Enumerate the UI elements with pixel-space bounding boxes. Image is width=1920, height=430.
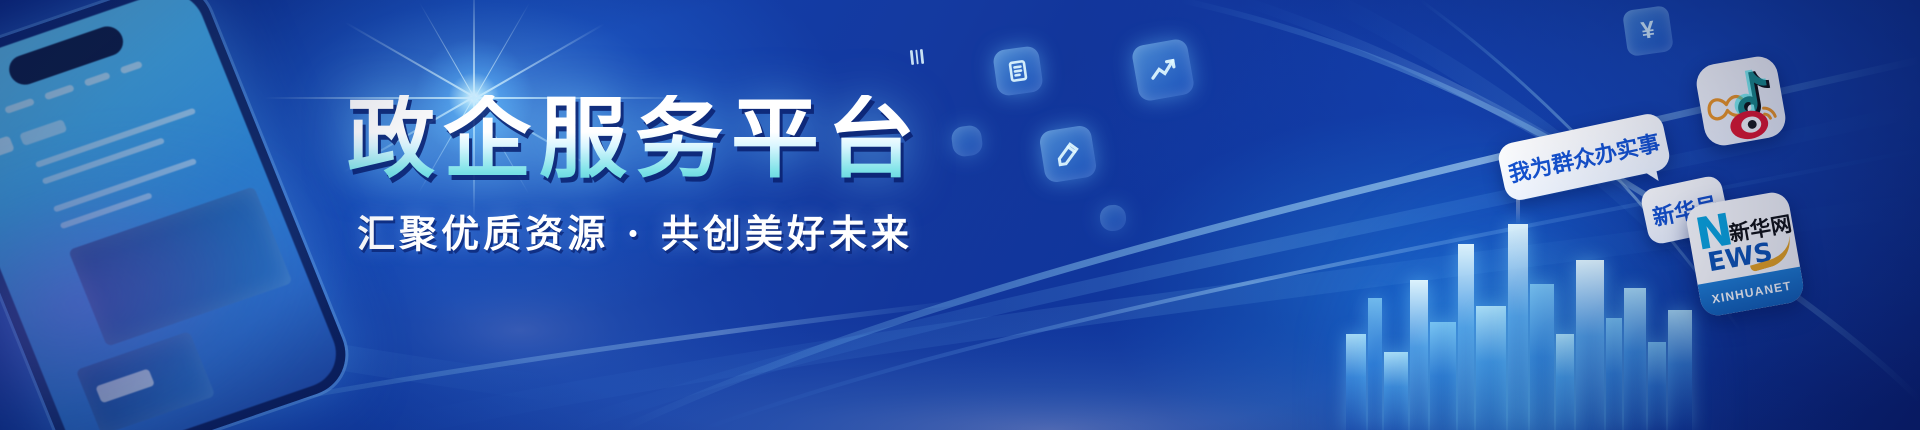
page-title: 政企服务平台 (325, 95, 945, 183)
document-icon[interactable] (992, 45, 1044, 97)
promo-banner: ¥ 政企服务平台 汇聚优质资源 · 共创美好未来 我为群众办实事 新华号 (0, 0, 1920, 430)
speech-bubble-tail (1642, 167, 1659, 184)
chart-icon[interactable] (1131, 38, 1196, 103)
page-subtitle: 汇聚优质资源 · 共创美好未来 (325, 203, 945, 258)
edit-icon[interactable] (1038, 124, 1097, 183)
headline-block: 政企服务平台 汇聚优质资源 · 共创美好未来 (325, 95, 945, 258)
barcode-icon[interactable] (898, 38, 935, 75)
social-icons-tile[interactable] (1694, 54, 1789, 149)
xinhuanet-badge[interactable]: N 新华网 EWS XINHUANET (1684, 190, 1806, 318)
currency-yen-icon: ¥ (1622, 5, 1674, 57)
xinhuanet-caption: XINHUANET (1711, 278, 1793, 306)
weibo-icon (1728, 106, 1778, 142)
